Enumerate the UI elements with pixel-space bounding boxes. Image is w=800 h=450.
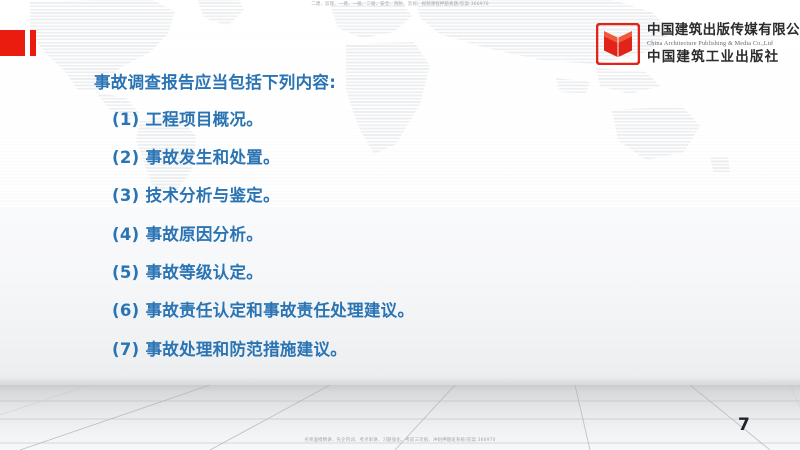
list-item: (2) 事故发生和处置。 — [94, 148, 694, 168]
list-item: (3) 技术分析与鉴定。 — [94, 186, 694, 206]
list-item-label: 事故等级认定。 — [145, 263, 263, 283]
list-item: (5) 事故等级认定。 — [94, 263, 694, 283]
list-item-number: (4) — [112, 225, 139, 245]
list-item-number: (3) — [112, 186, 139, 206]
logo-text-block: 中国建筑出版传媒有限公司 China Architecture Publishi… — [647, 23, 800, 65]
watermark-bottom: 名师面授精讲、先企内训、考点串讲、习题强化、考前三页纸、冲刺押题班系统/答案:3… — [0, 437, 800, 443]
publisher-logo: 中国建筑出版传媒有限公司 China Architecture Publishi… — [596, 23, 800, 65]
page-title: 事故调查报告应当包括下列内容: — [94, 73, 694, 93]
list-item-label: 事故原因分析。 — [145, 225, 263, 245]
list-item-label: 工程项目概况。 — [145, 110, 263, 130]
list-item-label: 事故发生和处置。 — [145, 148, 279, 168]
list-item: (6) 事故责任认定和事故责任处理建议。 — [94, 301, 694, 321]
red-square-accent — [0, 30, 25, 56]
list-item-label: 事故责任认定和事故责任处理建议。 — [145, 301, 414, 321]
list-item-number: (1) — [112, 110, 139, 130]
logo-company-en: China Architecture Publishing & Media Co… — [647, 40, 800, 48]
content-list: (1) 工程项目概况。 (2) 事故发生和处置。 (3) 技术分析与鉴定。 (4… — [94, 110, 694, 360]
page-number: 7 — [738, 415, 750, 435]
list-item: (4) 事故原因分析。 — [94, 225, 694, 245]
slide-canvas: 二建、监理、一建、一级、二级、安全、消防、音视、视频课程押题真题/答案:3669… — [0, 0, 800, 450]
logo-company-cn: 中国建筑出版传媒有限公司 — [647, 23, 800, 39]
red-bar-accent — [30, 30, 36, 56]
slide-content: 事故调查报告应当包括下列内容: (1) 工程项目概况。 (2) 事故发生和处置。… — [94, 73, 694, 378]
list-item-label: 事故处理和防范措施建议。 — [145, 340, 347, 360]
list-item: (1) 工程项目概况。 — [94, 110, 694, 130]
list-item-number: (6) — [112, 301, 139, 321]
list-item-label: 技术分析与鉴定。 — [145, 186, 279, 206]
list-item-number: (2) — [112, 148, 139, 168]
watermark-top: 二建、监理、一建、一级、二级、安全、消防、音视、视频课程押题真题/答案:3669… — [0, 1, 800, 7]
open-book-logo-icon — [596, 23, 640, 65]
list-item-number: (5) — [112, 263, 139, 283]
logo-press-cn: 中国建筑工业出版社 — [647, 49, 800, 65]
list-item-number: (7) — [112, 340, 139, 360]
list-item: (7) 事故处理和防范措施建议。 — [94, 340, 694, 360]
